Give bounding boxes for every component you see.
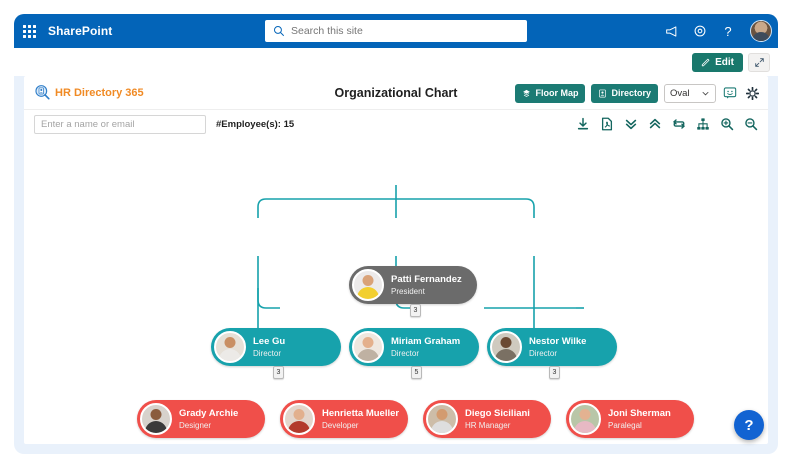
expand-button[interactable] [748, 53, 770, 72]
webpart-header-actions: Floor Map Directory Oval [515, 76, 760, 110]
chevron-down-icon [701, 89, 710, 98]
command-bar: Edit [14, 48, 778, 76]
hr-directory-brand-label: HR Directory 365 [55, 87, 144, 99]
org-node-nestor-wilke[interactable]: Nestor Wilke Director [487, 328, 617, 366]
org-node-diego-siciliani[interactable]: Diego Siciliani HR Manager [423, 400, 551, 438]
screenshot-root: SharePoint [0, 0, 792, 462]
pencil-icon [701, 57, 711, 67]
hierarchy-icon[interactable] [696, 117, 710, 131]
directory-button[interactable]: Directory [591, 84, 658, 103]
org-node-joni-sherman[interactable]: Joni Sherman Paralegal [566, 400, 694, 438]
org-node-lee-gu[interactable]: Lee Gu Director [211, 328, 341, 366]
org-node-miriam-graham[interactable]: Miriam Graham Director [349, 328, 479, 366]
org-node-title: President [391, 286, 462, 297]
org-node-name: Grady Archie [179, 408, 238, 420]
shape-select[interactable]: Oval [664, 84, 716, 103]
refresh-icon[interactable] [672, 117, 686, 131]
avatar [140, 403, 172, 435]
avatar [569, 403, 601, 435]
feedback-icon[interactable] [722, 85, 738, 101]
collapse-all-icon[interactable] [648, 117, 662, 131]
avatar [352, 331, 384, 363]
org-node-henrietta-mueller[interactable]: Henrietta Mueller Developer [280, 400, 408, 438]
org-node-title: Director [253, 348, 285, 359]
org-node-title: Paralegal [608, 420, 671, 431]
org-node-name: Henrietta Mueller [322, 408, 399, 420]
org-node-title: HR Manager [465, 420, 530, 431]
expand-icon [754, 57, 765, 68]
org-node-name: Diego Siciliani [465, 408, 530, 420]
sharepoint-brand[interactable]: SharePoint [48, 24, 112, 38]
org-node-badge-lee[interactable]: 3 [273, 366, 284, 379]
employee-count-label: #Employee(s): 15 [216, 119, 294, 130]
settings-gear-icon[interactable] [744, 85, 760, 101]
org-node-name: Patti Fernandez [391, 274, 462, 286]
avatar [490, 331, 522, 363]
org-node-name: Miriam Graham [391, 336, 460, 348]
download-icon[interactable] [576, 117, 590, 131]
help-icon[interactable]: ? [720, 23, 736, 39]
site-search-input[interactable] [291, 25, 491, 37]
directory-label: Directory [611, 88, 651, 98]
avatar [283, 403, 315, 435]
megaphone-icon[interactable] [664, 23, 680, 39]
sharepoint-suite-bar: SharePoint [14, 14, 778, 48]
floor-map-button[interactable]: Floor Map [515, 84, 585, 103]
avatar [214, 331, 246, 363]
chart-tool-icons [576, 110, 758, 138]
export-pdf-icon[interactable] [600, 117, 614, 131]
gear-icon[interactable] [692, 23, 708, 39]
org-chart-canvas[interactable]: Patti Fernandez President 3 Lee Gu Direc… [24, 138, 768, 444]
org-node-badge-patti[interactable]: 3 [410, 304, 421, 317]
site-search-box[interactable] [265, 20, 527, 42]
org-node-title: Developer [322, 420, 399, 431]
avatar [352, 269, 384, 301]
floor-map-icon [522, 89, 531, 98]
org-node-badge-miriam[interactable]: 5 [411, 366, 422, 379]
hr-directory-logo-icon [34, 84, 51, 101]
org-node-name: Joni Sherman [608, 408, 671, 420]
hr-directory-brand: HR Directory 365 [34, 84, 144, 101]
app-launcher-icon[interactable] [14, 14, 44, 48]
org-node-title: Director [391, 348, 460, 359]
avatar [426, 403, 458, 435]
expand-all-icon[interactable] [624, 117, 638, 131]
org-node-badge-nestor[interactable]: 3 [549, 366, 560, 379]
floor-map-label: Floor Map [535, 88, 578, 98]
org-chart-webpart: HR Directory 365 Organizational Chart Fl… [24, 76, 768, 444]
org-node-name: Nestor Wilke [529, 336, 586, 348]
suite-bar-actions: ? [664, 14, 772, 48]
org-node-title: Director [529, 348, 586, 359]
edit-button[interactable]: Edit [692, 53, 743, 72]
org-node-patti-fernandez[interactable]: Patti Fernandez President [349, 266, 477, 304]
edit-button-label: Edit [715, 57, 734, 68]
name-filter-input[interactable] [34, 115, 206, 134]
zoom-in-icon[interactable] [720, 117, 734, 131]
chart-tools-row: #Employee(s): 15 [24, 110, 768, 138]
org-node-title: Designer [179, 420, 238, 431]
app-frame: SharePoint [14, 14, 778, 454]
directory-icon [598, 89, 607, 98]
webpart-header: HR Directory 365 Organizational Chart Fl… [24, 76, 768, 110]
shape-select-value: Oval [670, 88, 690, 99]
search-icon [273, 25, 285, 37]
user-avatar[interactable] [750, 20, 772, 42]
org-node-name: Lee Gu [253, 336, 285, 348]
org-node-grady-archie[interactable]: Grady Archie Designer [137, 400, 265, 438]
zoom-out-icon[interactable] [744, 117, 758, 131]
help-fab-button[interactable]: ? [734, 410, 764, 440]
